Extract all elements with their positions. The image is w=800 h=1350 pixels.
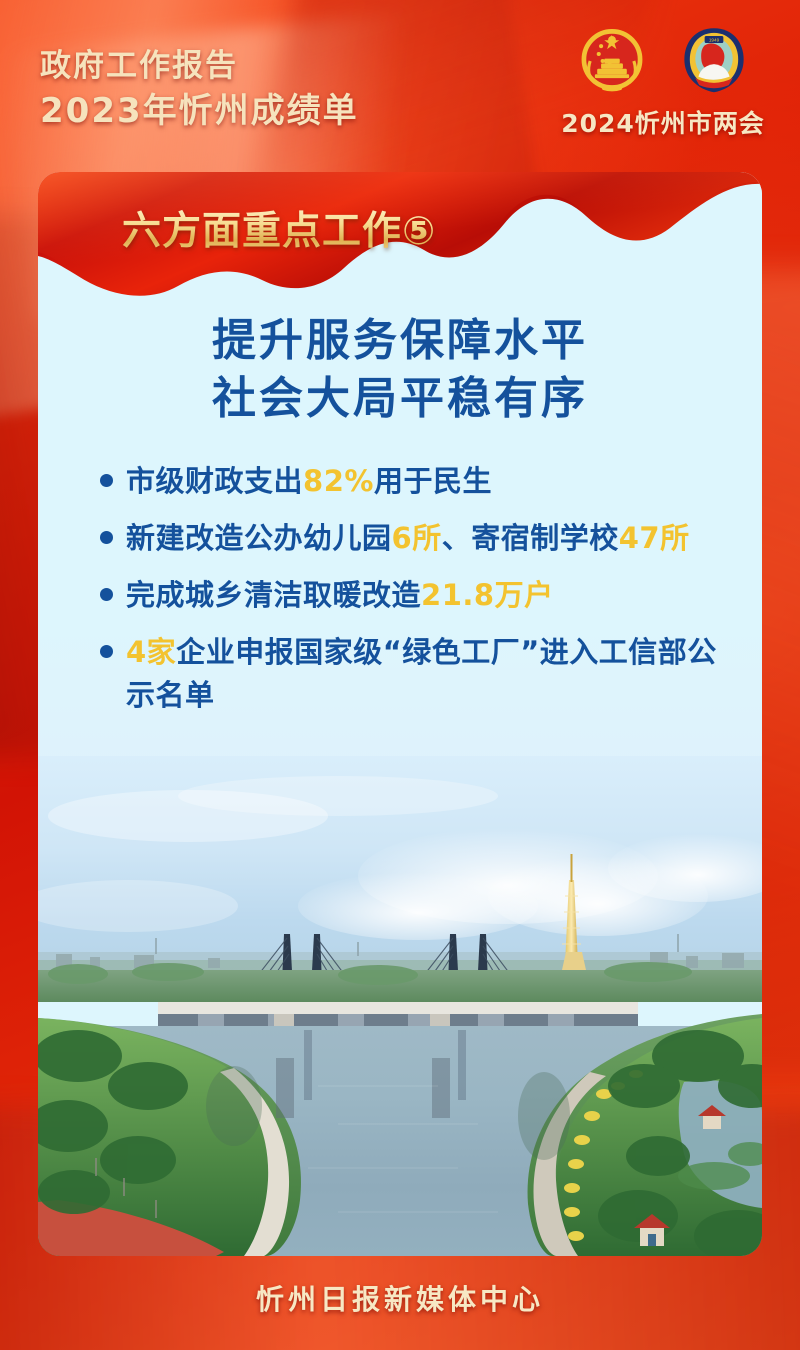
achievement-figure: 6所 <box>392 521 442 555</box>
headline-line-2: 社会大局平稳有序 <box>38 370 762 428</box>
bullet-dot-icon <box>100 531 113 544</box>
achievement-figure: 82% <box>303 464 374 498</box>
bullet-dot-icon <box>100 474 113 487</box>
poster-header: 政府工作报告 2023年忻州成绩单 <box>0 0 800 170</box>
bullet-dot-icon <box>100 645 113 658</box>
national-emblem-icon <box>573 22 651 100</box>
bullet-dot-icon <box>100 588 113 601</box>
headline-line-1: 提升服务保障水平 <box>38 312 762 370</box>
achievement-phrase: 新建改造公办幼儿园 <box>126 521 392 555</box>
cppcc-emblem-icon: 1949 <box>675 22 753 100</box>
achievement-phrase: 完成城乡清洁取暖改造 <box>126 578 421 612</box>
header-title-block: 政府工作报告 2023年忻州成绩单 <box>40 46 359 134</box>
achievement-phrase: 用于民生 <box>374 464 492 498</box>
poster-root: 政府工作报告 2023年忻州成绩单 <box>0 0 800 1350</box>
achievement-figure: 4家 <box>126 635 176 669</box>
card-headline: 提升服务保障水平 社会大局平稳有序 <box>38 312 762 428</box>
emblem-block: 1949 2024忻州市两会 <box>548 22 778 140</box>
svg-text:1949: 1949 <box>709 38 720 43</box>
two-sessions-label: 2024忻州市两会 <box>548 104 778 140</box>
poster-footer: 忻州日报新媒体中心 <box>0 1256 800 1350</box>
achievement-item: 完成城乡清洁取暖改造21.8万户 <box>100 574 726 617</box>
achievement-list: 市级财政支出82%用于民生新建改造公办幼儿园6所、寄宿制学校47所完成城乡清洁取… <box>100 460 726 731</box>
achievement-phrase: 企业申报国家级“绿色工厂”进入工信部公示名单 <box>126 635 717 712</box>
publisher-credit: 忻州日报新媒体中心 <box>0 1278 800 1318</box>
achievement-text: 市级财政支出82%用于民生 <box>126 460 492 503</box>
report-title: 政府工作报告 <box>40 46 359 86</box>
achievement-text: 4家企业申报国家级“绿色工厂”进入工信部公示名单 <box>126 631 726 717</box>
achievement-figure: 47所 <box>619 521 690 555</box>
achievement-phrase: 市级财政支出 <box>126 464 303 498</box>
report-subtitle: 2023年忻州成绩单 <box>40 88 359 134</box>
achievement-figure: 21.8万户 <box>421 578 554 612</box>
achievement-text: 完成城乡清洁取暖改造21.8万户 <box>126 574 554 617</box>
achievement-item: 新建改造公办幼儿园6所、寄宿制学校47所 <box>100 517 726 560</box>
section-title: 六方面重点工作⑤ <box>122 200 436 256</box>
content-card: 六方面重点工作⑤ 提升服务保障水平 社会大局平稳有序 市级财政支出82%用于民生… <box>38 172 762 1256</box>
achievement-text: 新建改造公办幼儿园6所、寄宿制学校47所 <box>126 517 690 560</box>
achievement-phrase: 、寄宿制学校 <box>442 521 619 555</box>
achievement-item: 市级财政支出82%用于民生 <box>100 460 726 503</box>
city-river-photo <box>38 756 762 1256</box>
achievement-item: 4家企业申报国家级“绿色工厂”进入工信部公示名单 <box>100 631 726 717</box>
